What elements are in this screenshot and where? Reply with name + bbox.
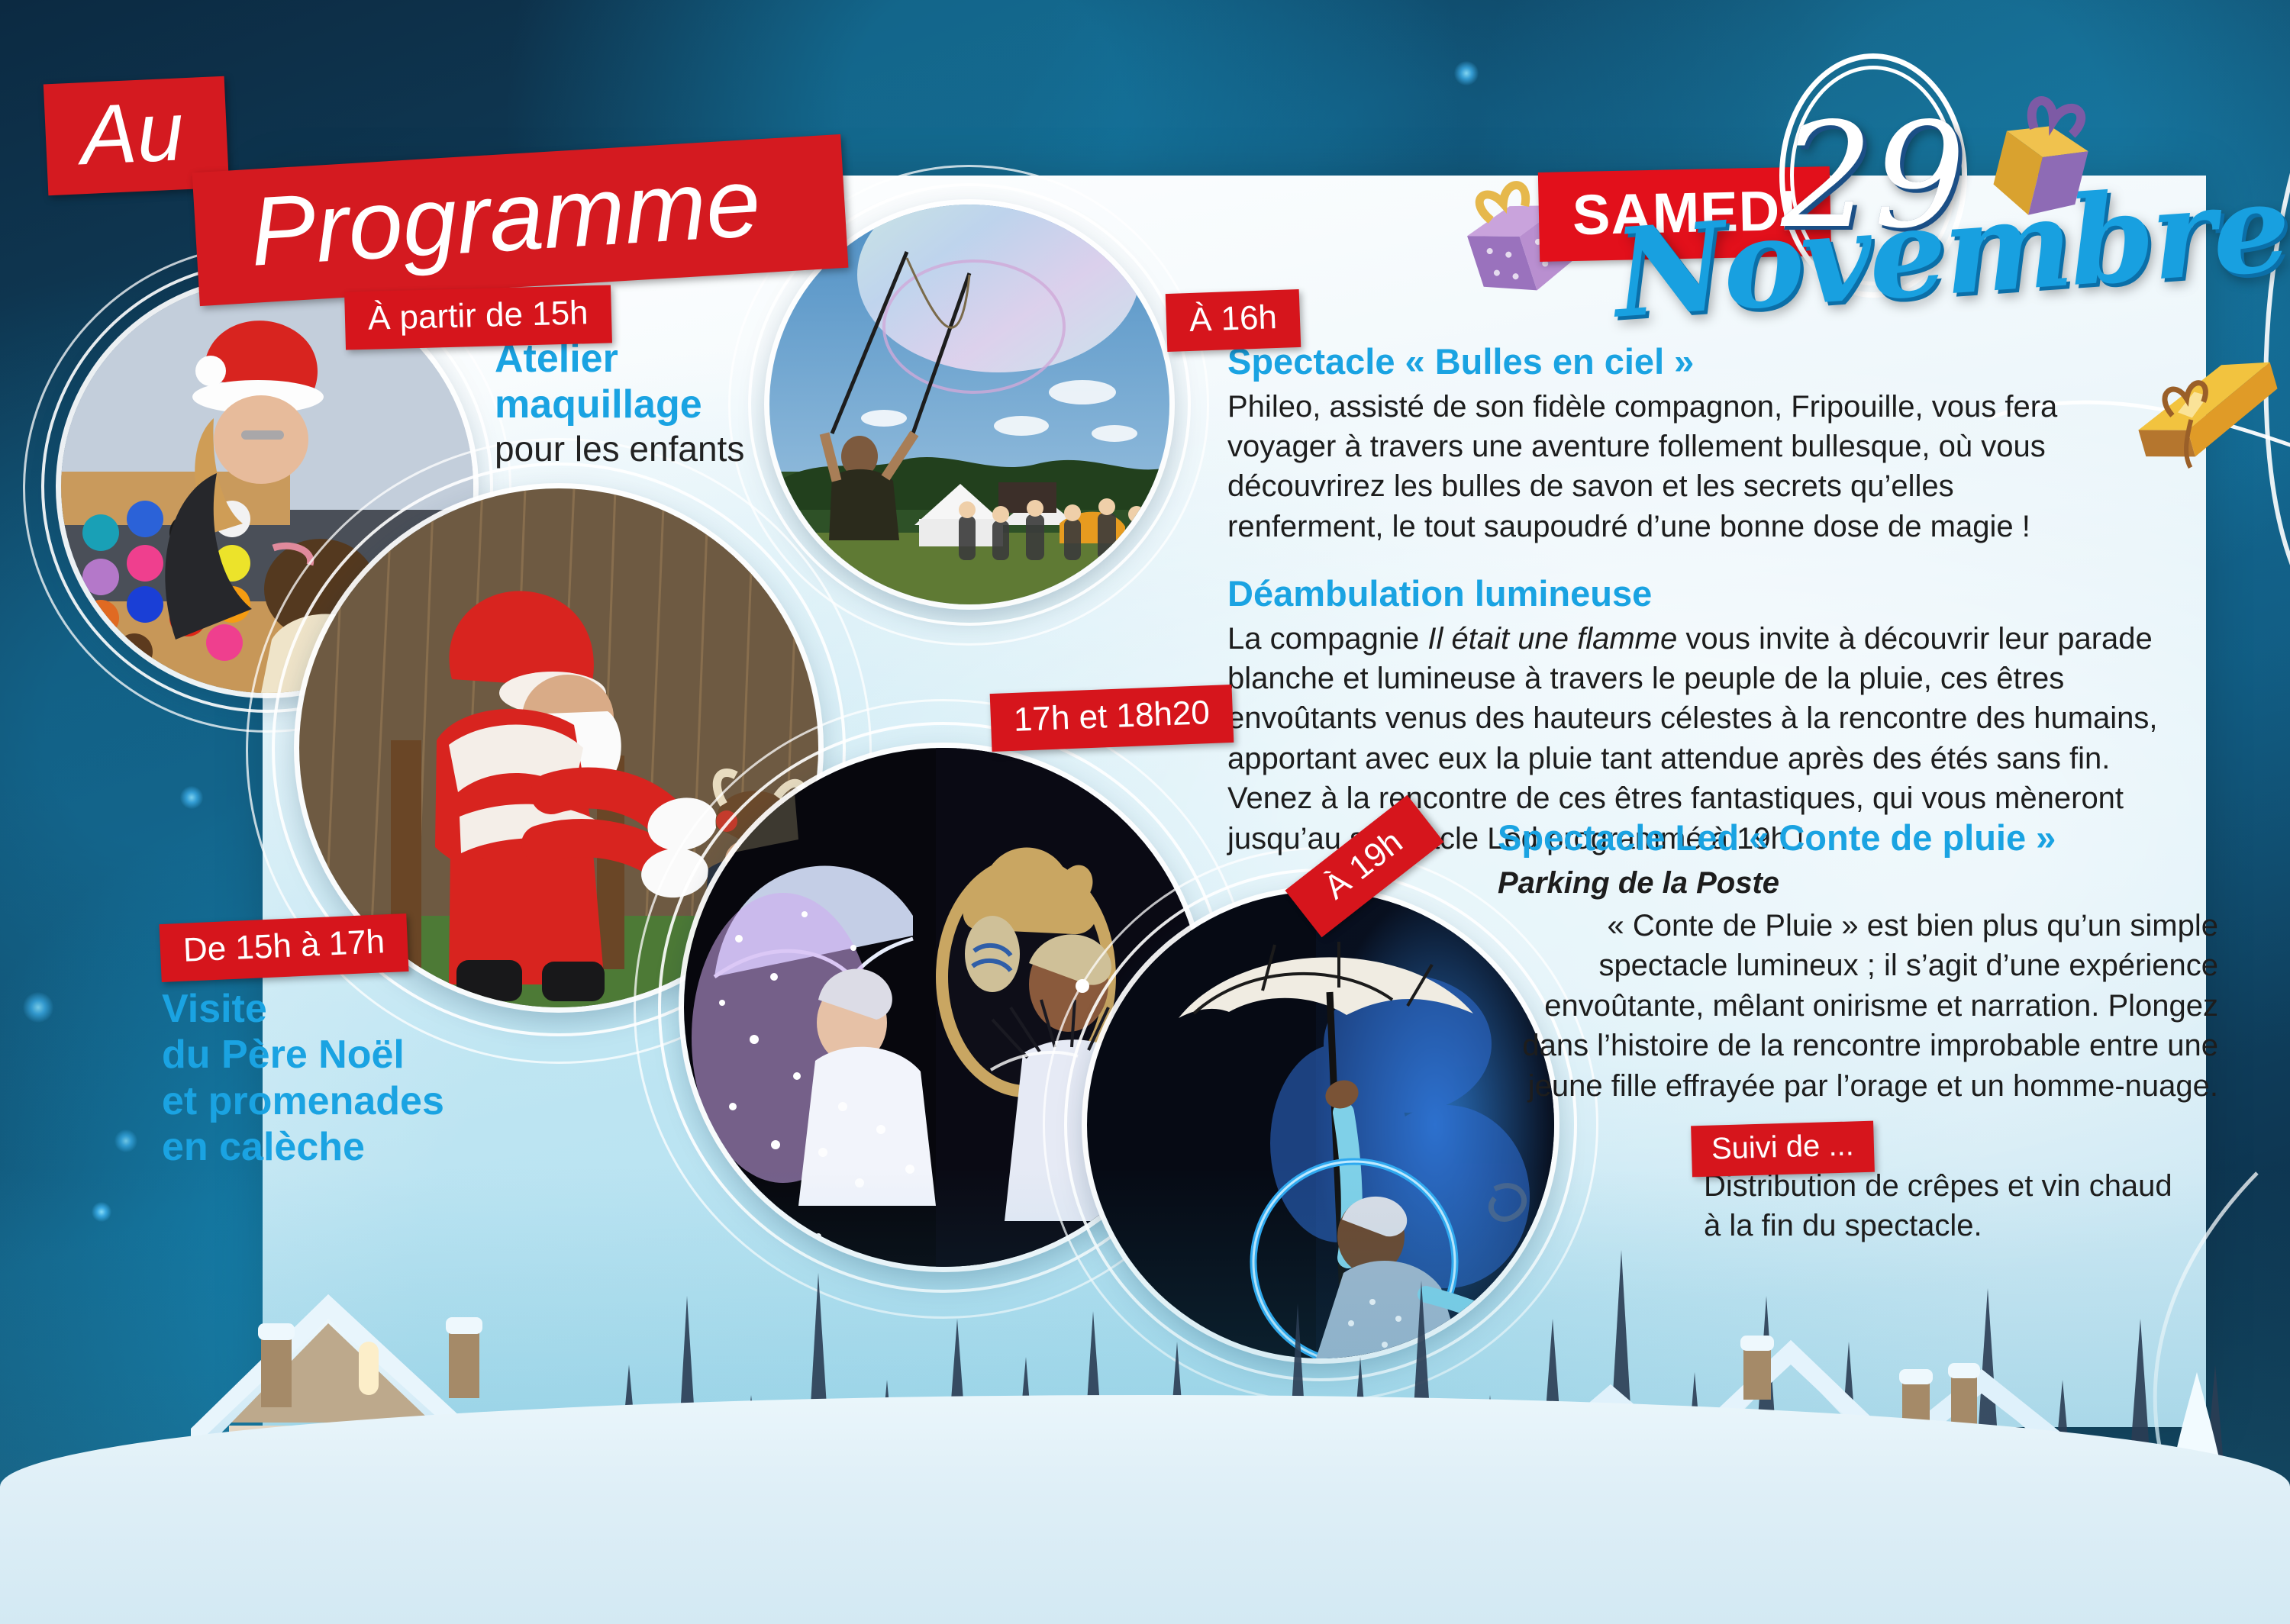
deambulation-company-name: Il était une flamme xyxy=(1427,622,1677,656)
bulles-title: Spectacle « Bulles en ciel » xyxy=(1227,342,2058,382)
pere-noel-line1: Visite xyxy=(162,986,444,1032)
event-poster: Au Programme SAMEDI 29 xyxy=(0,0,2290,1624)
label-visite-pere-noel: Visite du Père Noël et promenades en cal… xyxy=(162,986,444,1170)
pere-noel-line2: du Père Noël xyxy=(162,1032,444,1078)
badge-maquillage-time: À partir de 15h xyxy=(344,285,611,350)
bokeh-dot xyxy=(180,786,203,809)
badge-pere-noel-time: De 15h à 17h xyxy=(159,913,408,982)
event-bulles-en-ciel: Spectacle « Bulles en ciel » Phileo, ass… xyxy=(1227,342,2058,546)
pere-noel-line3: et promenades xyxy=(162,1078,444,1124)
snow-ground xyxy=(0,1395,2290,1624)
bokeh-dot xyxy=(114,1129,137,1152)
event-suivi-de: Distribution de crêpes et vin chaud à la… xyxy=(1704,1166,2192,1246)
led-place: Parking de la Poste xyxy=(1498,863,2218,903)
event-deambulation-lumineuse: Déambulation lumineuse La compagnie Il é… xyxy=(1227,574,2174,859)
badge-suivi: Suivi de ... xyxy=(1691,1121,1875,1178)
suivi-body: Distribution de crêpes et vin chaud à la… xyxy=(1704,1166,2192,1246)
label-atelier-maquillage: Atelier maquillage pour les enfants xyxy=(495,336,744,469)
event-date: SAMEDI 29 Novembre xyxy=(1455,43,2226,295)
event-spectacle-led: Spectacle Led « Conte de pluie » Parking… xyxy=(1498,818,2218,1106)
badge-bulles-time: À 16h xyxy=(1166,289,1301,352)
led-body: « Conte de Pluie » est bien plus qu’un s… xyxy=(1498,906,2218,1106)
pere-noel-line4: en calèche xyxy=(162,1124,444,1170)
badge-deambulation-time: 17h et 18h20 xyxy=(990,685,1234,752)
deambulation-title: Déambulation lumineuse xyxy=(1227,574,2174,614)
deambulation-body-pre: La compagnie xyxy=(1227,622,1427,656)
maquillage-title-line2: maquillage xyxy=(495,382,744,427)
maquillage-subtitle: pour les enfants xyxy=(495,428,744,469)
bulles-body: Phileo, assisté de son fidèle compagnon,… xyxy=(1227,387,2058,547)
led-title: Spectacle Led « Conte de pluie » xyxy=(1498,818,2218,859)
bokeh-dot xyxy=(23,992,53,1023)
